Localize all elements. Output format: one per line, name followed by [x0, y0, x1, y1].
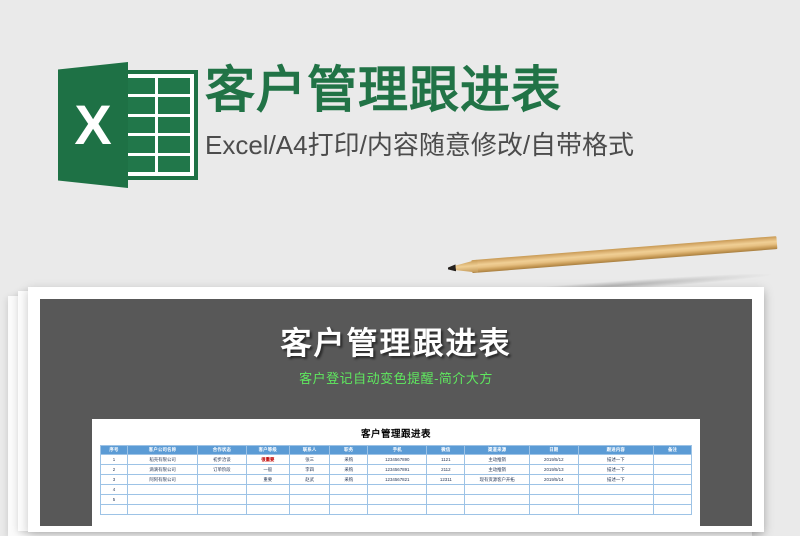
cell-role[interactable]: 采购	[330, 455, 368, 465]
excel-logo-icon: X	[58, 62, 198, 188]
cell-level[interactable]: 重要	[246, 475, 289, 485]
cell-channel[interactable]	[465, 485, 530, 495]
column-header-level: 客户等级	[246, 446, 289, 455]
cell-channel[interactable]	[465, 505, 530, 515]
spreadsheet-sheet: 客户管理跟进表 序号 客户公司名称 合作状态 客户等级 联系人 职务	[92, 419, 700, 526]
cell-level[interactable]	[246, 485, 289, 495]
preview-panel: 客户管理跟进表 客户登记自动变色提醒-简介大方 客户管理跟进表 序号 客户公司名…	[40, 299, 752, 526]
preview-title: 客户管理跟进表	[40, 299, 752, 363]
cell-follow[interactable]	[578, 485, 654, 495]
cell-phone[interactable]	[368, 485, 427, 495]
cell-contact[interactable]	[289, 495, 329, 505]
cell-role[interactable]	[330, 485, 368, 495]
cell-note[interactable]	[654, 475, 692, 485]
cell-follow[interactable]: 描述一下	[578, 455, 654, 465]
cell-wechat[interactable]: 1121	[427, 455, 465, 465]
customer-tracking-table: 序号 客户公司名称 合作状态 客户等级 联系人 职务 手机 微信 渠道来源 日期…	[100, 445, 692, 515]
cell-channel[interactable]: 主动推销	[465, 455, 530, 465]
cell-date[interactable]: 2019/5/12	[530, 455, 579, 465]
cell-note[interactable]	[654, 505, 692, 515]
cell-note[interactable]	[654, 495, 692, 505]
cell-status[interactable]	[198, 485, 247, 495]
cell-wechat[interactable]: 12311	[427, 475, 465, 485]
cell-date[interactable]	[530, 485, 579, 495]
table-row[interactable]: 4	[101, 485, 692, 495]
cell-note[interactable]	[654, 465, 692, 475]
table-header-row: 序号 客户公司名称 合作状态 客户等级 联系人 职务 手机 微信 渠道来源 日期…	[101, 446, 692, 455]
table-row[interactable]: 5	[101, 495, 692, 505]
cell-date[interactable]: 2019/5/14	[530, 475, 579, 485]
cell-level[interactable]	[246, 505, 289, 515]
preview-subtitle: 客户登记自动变色提醒-简介大方	[40, 368, 752, 387]
cell-phone[interactable]	[368, 495, 427, 505]
cell-channel[interactable]	[465, 495, 530, 505]
cell-company[interactable]	[127, 485, 197, 495]
cell-company[interactable]	[127, 495, 197, 505]
column-header-note: 备注	[654, 446, 692, 455]
column-header-wechat: 微信	[427, 446, 465, 455]
column-header-follow: 跟进内容	[578, 446, 654, 455]
headline-block: 客户管理跟进表 Excel/A4打印/内容随意修改/自带格式	[205, 62, 785, 161]
cell-date[interactable]	[530, 495, 579, 505]
cell-status[interactable]: 订单阶段	[198, 465, 247, 475]
column-header-index: 序号	[101, 446, 128, 455]
cell-note[interactable]	[654, 455, 692, 465]
cell-note[interactable]	[654, 485, 692, 495]
cell-level[interactable]: 很重要	[246, 455, 289, 465]
excel-logo-letter: X	[58, 62, 128, 188]
sheet-title: 客户管理跟进表	[92, 419, 700, 440]
cell-phone[interactable]: 1234567821	[368, 475, 427, 485]
cell-wechat[interactable]	[427, 505, 465, 515]
cell-contact[interactable]	[289, 505, 329, 515]
cell-role[interactable]	[330, 495, 368, 505]
cell-contact[interactable]	[289, 485, 329, 495]
cell-index[interactable]: 5	[101, 495, 128, 505]
column-header-phone: 手机	[368, 446, 427, 455]
cell-channel[interactable]: 现有资源客户开拓	[465, 475, 530, 485]
cell-index[interactable]: 4	[101, 485, 128, 495]
cell-follow[interactable]: 描述一下	[578, 475, 654, 485]
column-header-company: 客户公司名称	[127, 446, 197, 455]
cell-level[interactable]	[246, 495, 289, 505]
cell-status[interactable]	[198, 495, 247, 505]
table-row[interactable]: 2滴滴有限公司订单阶段一般李四采购12345678912112主动推销2019/…	[101, 465, 692, 475]
table-row[interactable]: 3阿阿有限公司重要赵武采购123456782112311现有资源客户开拓2019…	[101, 475, 692, 485]
cell-status[interactable]	[198, 475, 247, 485]
table-row[interactable]	[101, 505, 692, 515]
cell-company[interactable]: 阿阿有限公司	[127, 475, 197, 485]
page-subtitle: Excel/A4打印/内容随意修改/自带格式	[205, 130, 785, 161]
cell-index[interactable]	[101, 505, 128, 515]
cell-wechat[interactable]	[427, 485, 465, 495]
pencil-lead-tip	[448, 264, 457, 272]
cell-wechat[interactable]	[427, 495, 465, 505]
cell-follow[interactable]	[578, 495, 654, 505]
cell-role[interactable]: 采购	[330, 465, 368, 475]
cell-phone[interactable]: 1234567891	[368, 465, 427, 475]
top-banner: X 客户管理跟进表 Excel/A4打印/内容随意修改/自带格式	[0, 0, 800, 262]
cell-contact[interactable]: 赵武	[289, 475, 329, 485]
column-header-status: 合作状态	[198, 446, 247, 455]
table-row[interactable]: 1稻壳有限公司初步洽谈很重要张三采购12345678901121主动推销2019…	[101, 455, 692, 465]
cell-date[interactable]: 2019/5/13	[530, 465, 579, 475]
cell-company[interactable]: 滴滴有限公司	[127, 465, 197, 475]
cell-role[interactable]: 采购	[330, 475, 368, 485]
cell-channel[interactable]: 主动推销	[465, 465, 530, 475]
cell-follow[interactable]: 描述一下	[578, 465, 654, 475]
cell-date[interactable]	[530, 505, 579, 515]
page-title: 客户管理跟进表	[205, 62, 785, 118]
cell-level[interactable]: 一般	[246, 465, 289, 475]
cell-contact[interactable]: 张三	[289, 455, 329, 465]
cell-role[interactable]	[330, 505, 368, 515]
cell-index[interactable]: 1	[101, 455, 128, 465]
cell-index[interactable]: 2	[101, 465, 128, 475]
cell-follow[interactable]	[578, 505, 654, 515]
cell-status[interactable]: 初步洽谈	[198, 455, 247, 465]
cell-company[interactable]: 稻壳有限公司	[127, 455, 197, 465]
column-header-channel: 渠道来源	[465, 446, 530, 455]
cell-phone[interactable]: 1234567890	[368, 455, 427, 465]
cell-contact[interactable]: 李四	[289, 465, 329, 475]
column-header-role: 职务	[330, 446, 368, 455]
cell-status[interactable]	[198, 505, 247, 515]
cell-index[interactable]: 3	[101, 475, 128, 485]
column-header-contact: 联系人	[289, 446, 329, 455]
cell-company[interactable]	[127, 505, 197, 515]
cell-phone[interactable]	[368, 505, 427, 515]
cell-wechat[interactable]: 2112	[427, 465, 465, 475]
column-header-date: 日期	[530, 446, 579, 455]
